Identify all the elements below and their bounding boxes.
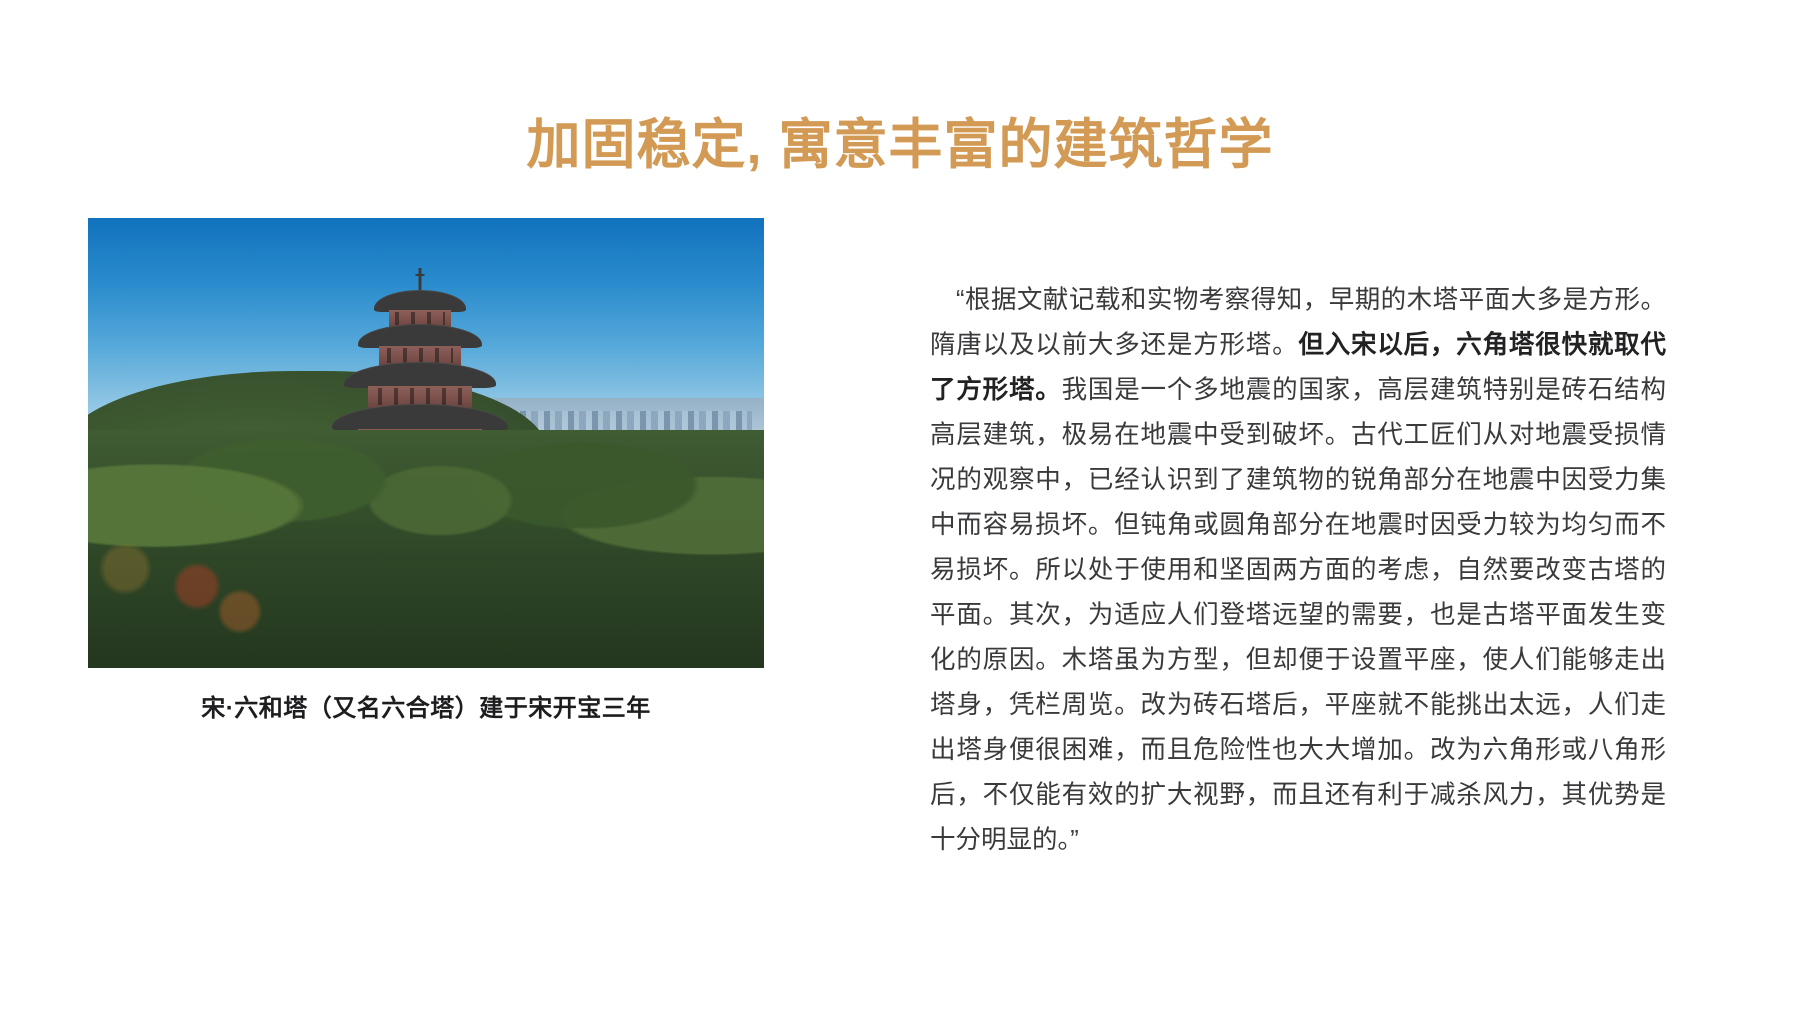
pagoda-photo [88, 218, 764, 668]
body-paragraph: “根据文献记载和实物考察得知，早期的木塔平面大多是方形。隋唐以及以前大多还是方形… [930, 278, 1666, 863]
pagoda-roof-2 [358, 324, 482, 348]
pagoda-roof-4 [332, 404, 508, 431]
pagoda-roof-1 [374, 290, 466, 312]
page-title-container: 加固稳定, 寓意丰富的建筑哲学 [0, 78, 1800, 212]
body-column: “根据文献记载和实物考察得知，早期的木塔平面大多是方形。隋唐以及以前大多还是方形… [930, 252, 1666, 888]
photo-caption: 宋·六和塔（又名六合塔）建于宋开宝三年 [88, 688, 764, 723]
pagoda-roof-3 [344, 362, 496, 388]
page-title: 加固稳定, 寓意丰富的建筑哲学 [526, 114, 1273, 176]
forest-foreground [88, 430, 764, 669]
photo-column: 宋·六和塔（又名六合塔）建于宋开宝三年 [88, 218, 764, 723]
body-segment-3: 我国是一个多地震的国家，高层建筑特别是砖石结构高层建筑，极易在地震中受到破坏。古… [930, 376, 1666, 854]
slide-root: 加固稳定, 寓意丰富的建筑哲学 [0, 0, 1800, 1012]
